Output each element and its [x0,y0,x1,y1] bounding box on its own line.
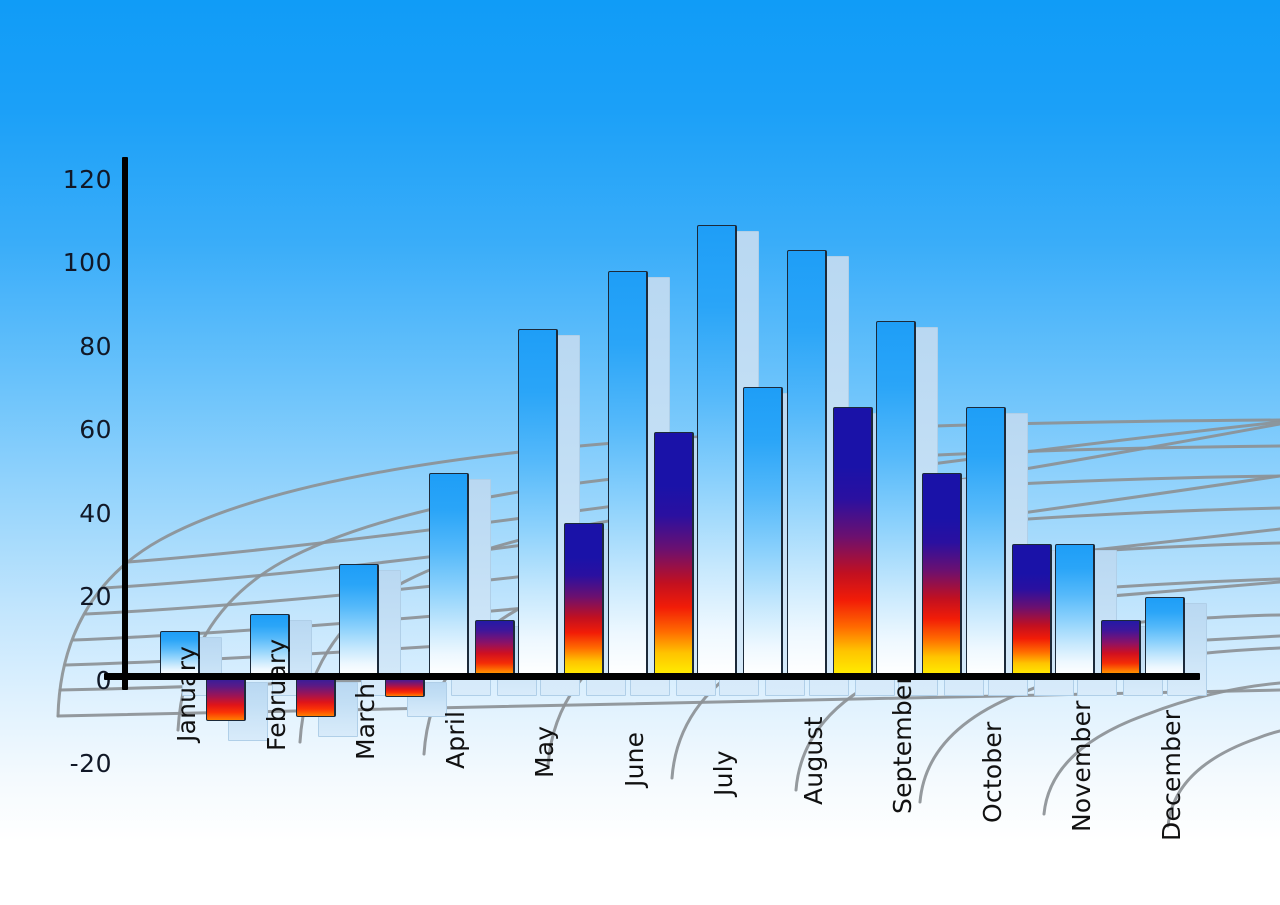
x-axis-label-april: April [443,711,468,769]
y-axis-tick-0: 0 [48,668,112,693]
plot-area: JanuaryFebruaryMarchAprilMayJuneJulyAugu… [0,0,1280,905]
bar-october-series2[interactable] [1012,544,1052,676]
x-axis-label-january: January [174,646,199,742]
x-axis-label-november: November [1069,700,1094,832]
bar-april-series2[interactable] [475,620,515,676]
y-axis-tick-neg20: -20 [48,751,112,776]
x-axis-label-february: February [264,639,289,751]
x-axis-label-september: September [890,674,915,814]
x-axis-label-october: October [980,722,1005,823]
y-axis-tick-80: 80 [48,334,112,359]
y-axis-tick-60: 60 [48,417,112,442]
bar-november-series1[interactable] [1055,544,1095,676]
bar-october-series1[interactable] [966,407,1006,676]
y-axis-tick-40: 40 [48,501,112,526]
chart-canvas: JanuaryFebruaryMarchAprilMayJuneJulyAugu… [0,0,1280,905]
bar-august-series1[interactable] [787,250,827,676]
bar-december-series1[interactable] [1145,597,1185,676]
bar-march-series1[interactable] [339,564,379,676]
zero-baseline [104,673,1200,680]
bar-september-series2[interactable] [922,473,962,676]
x-axis-label-june: June [622,732,647,787]
y-axis-tick-20: 20 [48,584,112,609]
bar-may-series2[interactable] [564,523,604,676]
bar-september-series1[interactable] [876,321,916,676]
y-axis-tick-120: 120 [48,167,112,192]
x-axis-label-may: May [532,726,557,778]
x-axis-label-march: March [353,683,378,760]
bar-june-series1[interactable] [608,271,648,676]
x-axis-label-december: December [1159,710,1184,841]
bar-january-series2[interactable] [206,676,246,721]
bar-july-series2[interactable] [743,387,783,676]
bar-july-series1[interactable] [697,225,737,676]
bar-may-series1[interactable] [518,329,558,676]
x-axis-label-august: August [801,716,826,805]
bar-april-series1[interactable] [429,473,469,676]
value-axis-line [122,157,128,690]
x-axis-label-july: July [711,750,736,796]
bar-august-series2[interactable] [833,407,873,676]
bar-june-series2[interactable] [654,432,694,676]
bar-november-series2[interactable] [1101,620,1141,676]
bar-february-series2[interactable] [296,676,336,717]
y-axis-tick-100: 100 [48,250,112,275]
